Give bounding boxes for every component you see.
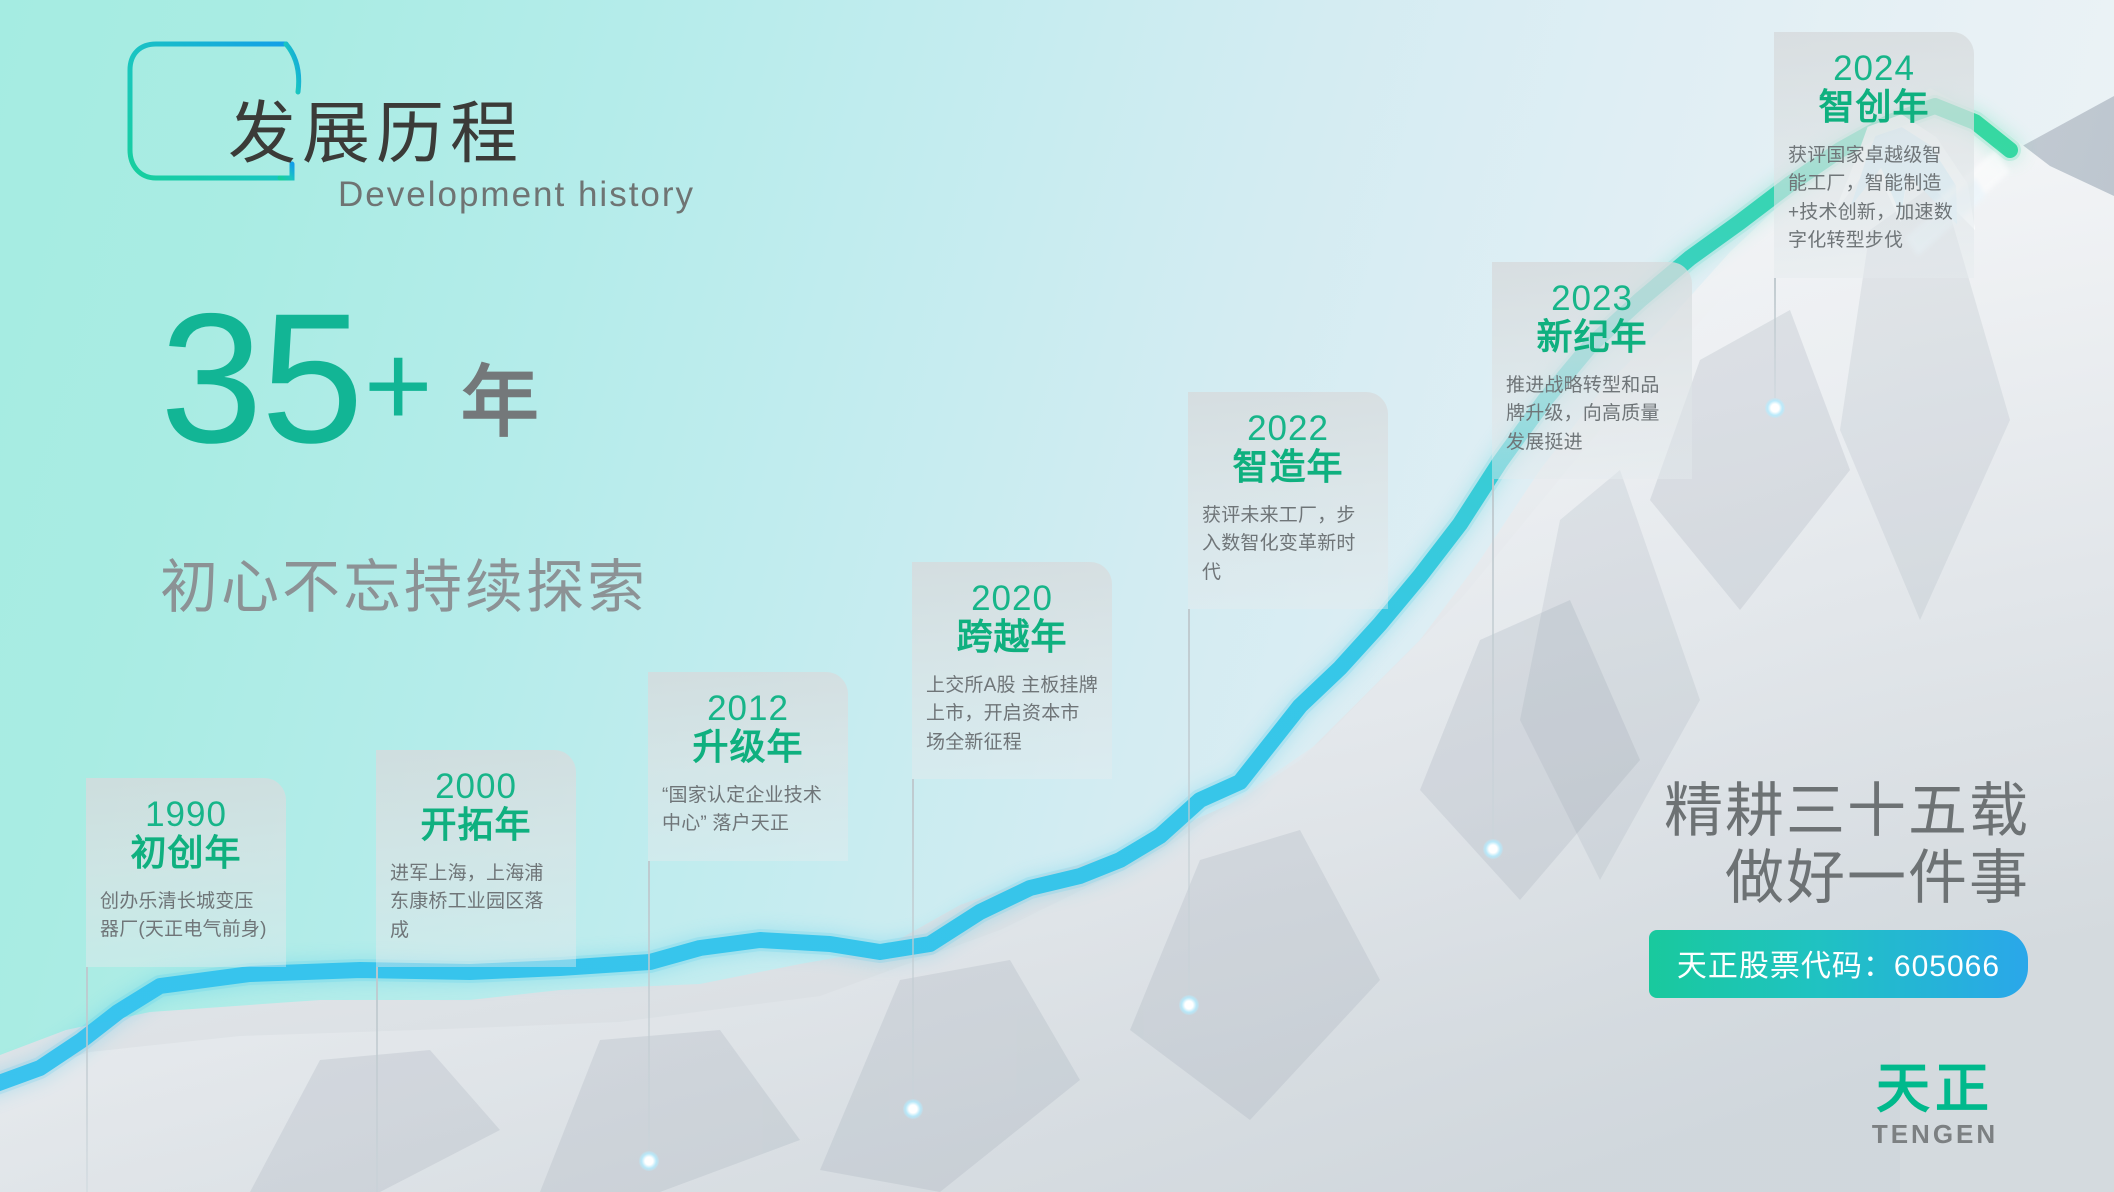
milestone-desc: 进军上海，上海浦东康桥工业园区落成: [390, 860, 562, 946]
years-plus: +: [364, 327, 433, 445]
milestone-year: 2024: [1788, 50, 1960, 87]
milestone-card[interactable]: 2000 开拓年 进军上海，上海浦东康桥工业园区落成: [376, 750, 576, 967]
milestone-year: 2012: [662, 690, 834, 727]
milestone-card[interactable]: 2012 升级年 “国家认定企业技术中心” 落户天正: [648, 672, 848, 861]
milestone-stem: [1774, 278, 1776, 398]
milestone-label: 升级年: [662, 726, 834, 768]
years-unit: 年: [461, 363, 539, 441]
milestone-stem: [86, 967, 88, 1192]
milestone-year: 2022: [1202, 410, 1374, 447]
milestone-node-dot: [639, 1151, 659, 1171]
milestone-node-dot: [903, 1099, 923, 1119]
milestone-node-dot: [1483, 839, 1503, 859]
milestone-desc: 获评未来工厂，步入数智化变革新时代: [1202, 502, 1374, 588]
milestone-desc: 获评国家卓越级智能工厂，智能制造+技术创新，加速数字化转型步伐: [1788, 142, 1960, 256]
milestone-2024[interactable]: 2024 智创年 获评国家卓越级智能工厂，智能制造+技术创新，加速数字化转型步伐: [1774, 32, 1974, 278]
page-subtitle: Development history: [338, 175, 695, 215]
brand-logo: 天正 TENGEN: [1840, 1062, 2030, 1150]
stat-tagline: 初心不忘持续探索: [160, 540, 648, 624]
stock-code-badge: 天正股票代码：605066: [1649, 930, 2028, 998]
milestone-node-dot: [1765, 398, 1785, 418]
milestone-card[interactable]: 2022 智造年 获评未来工厂，步入数智化变革新时代: [1188, 392, 1388, 609]
milestone-2020[interactable]: 2020 跨越年 上交所A股 主板挂牌上市，开启资本市场全新征程: [912, 562, 1112, 779]
slogan-line-2: 做好一件事: [1664, 845, 2030, 912]
milestone-year: 2023: [1506, 280, 1678, 317]
brand-name-en: TENGEN: [1840, 1119, 2030, 1150]
milestone-desc: 创办乐清长城变压器厂(天正电气前身): [100, 888, 272, 945]
milestone-label: 智创年: [1788, 86, 1960, 128]
milestone-year: 2000: [390, 768, 562, 805]
brand-name-cn: 天正: [1840, 1062, 2030, 1116]
milestone-year: 2020: [926, 580, 1098, 617]
milestone-label: 智造年: [1202, 446, 1374, 488]
milestone-2000[interactable]: 2000 开拓年 进军上海，上海浦东康桥工业园区落成: [376, 750, 576, 967]
poster-canvas: 发展历程 Development history 35 + 年 初心不忘持续探索…: [0, 0, 2114, 1192]
milestone-2023[interactable]: 2023 新纪年 推进战略转型和品牌升级，向高质量发展挺进: [1492, 262, 1692, 479]
milestone-label: 新纪年: [1506, 316, 1678, 358]
milestone-node-dot: [1179, 995, 1199, 1015]
milestone-stem: [1188, 609, 1190, 995]
milestone-label: 开拓年: [390, 804, 562, 846]
milestone-stem: [1492, 479, 1494, 839]
company-slogan: 精耕三十五载 做好一件事: [1664, 778, 2030, 911]
milestone-desc: 上交所A股 主板挂牌上市，开启资本市场全新征程: [926, 672, 1098, 758]
milestone-2022[interactable]: 2022 智造年 获评未来工厂，步入数智化变革新时代: [1188, 392, 1388, 609]
milestone-label: 跨越年: [926, 616, 1098, 658]
milestone-year: 1990: [100, 796, 272, 833]
milestone-2012[interactable]: 2012 升级年 “国家认定企业技术中心” 落户天正: [648, 672, 848, 861]
years-number: 35: [160, 300, 362, 459]
milestone-card[interactable]: 2020 跨越年 上交所A股 主板挂牌上市，开启资本市场全新征程: [912, 562, 1112, 779]
milestone-stem: [376, 967, 378, 1192]
slogan-line-1: 精耕三十五载: [1664, 778, 2030, 845]
milestone-stem: [648, 861, 650, 1151]
milestone-card[interactable]: 1990 初创年 创办乐清长城变压器厂(天正电气前身): [86, 778, 286, 967]
milestone-label: 初创年: [100, 832, 272, 874]
milestone-desc: 推进战略转型和品牌升级，向高质量发展挺进: [1506, 372, 1678, 458]
milestone-1990[interactable]: 1990 初创年 创办乐清长城变压器厂(天正电气前身): [86, 778, 286, 967]
page-title: 发展历程: [228, 78, 524, 177]
milestone-desc: “国家认定企业技术中心” 落户天正: [662, 782, 834, 839]
milestone-card[interactable]: 2023 新纪年 推进战略转型和品牌升级，向高质量发展挺进: [1492, 262, 1692, 479]
milestone-card[interactable]: 2024 智创年 获评国家卓越级智能工厂，智能制造+技术创新，加速数字化转型步伐: [1774, 32, 1974, 278]
milestone-stem: [912, 779, 914, 1099]
years-stat: 35 + 年: [160, 300, 539, 459]
